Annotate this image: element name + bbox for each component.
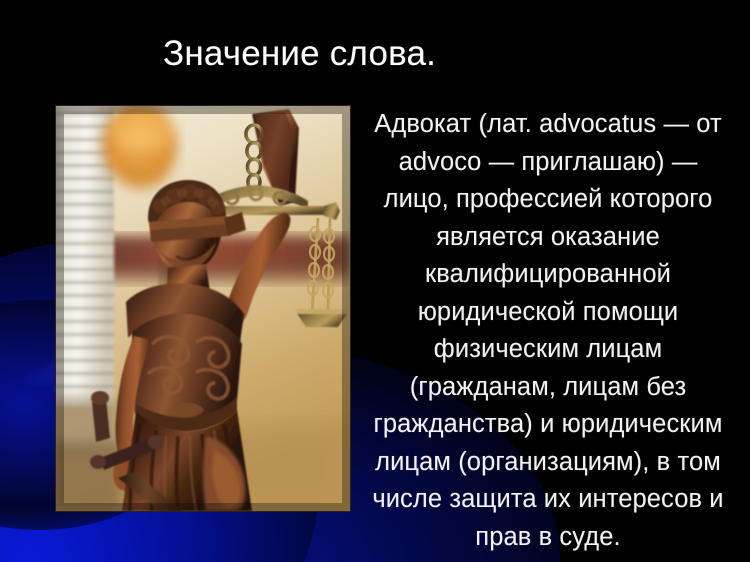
- slide-body-text: Адвокат (лат. advocatus — от advoco — пр…: [372, 106, 724, 556]
- body-paragraph: Адвокат (лат. advocatus — от advoco — пр…: [372, 106, 724, 556]
- justice-statue-photo: [56, 106, 350, 511]
- presentation-slide: Значение слова.: [0, 0, 750, 562]
- photo-inner: [56, 106, 350, 511]
- lady-justice-illustration: [56, 106, 350, 511]
- slide-title: Значение слова.: [163, 33, 436, 75]
